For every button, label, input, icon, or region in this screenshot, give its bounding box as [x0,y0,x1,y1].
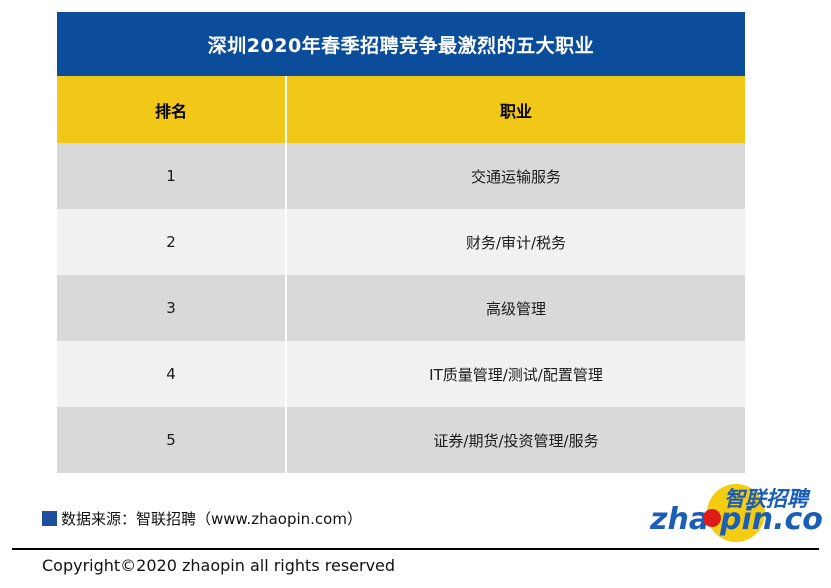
table-row: 2 财务/审计/税务 [57,209,745,275]
table-row: 1 交通运输服务 [57,143,745,209]
footer-divider [12,548,819,550]
data-source-note: 数据来源：智联招聘（www.zhaopin.com） [42,508,362,529]
table-row: 4 IT质量管理/测试/配置管理 [57,341,745,407]
cell-occupation: 财务/审计/税务 [287,209,745,275]
ranking-table: 深圳2020年春季招聘竞争最激烈的五大职业 排名 职业 1 交通运输服务 2 财… [57,12,745,475]
table-title-bar: 深圳2020年春季招聘竞争最激烈的五大职业 [57,12,745,76]
table-row: 3 高级管理 [57,275,745,341]
column-header-rank: 排名 [57,76,285,143]
cell-rank: 3 [57,275,285,341]
svg-text:智联招聘: 智联招聘 [724,487,811,511]
cell-rank: 2 [57,209,285,275]
cell-rank: 1 [57,143,285,209]
cell-rank: 5 [57,407,285,473]
table-row: 5 证券/期货/投资管理/服务 [57,407,745,473]
cell-rank: 4 [57,341,285,407]
cell-occupation: IT质量管理/测试/配置管理 [287,341,745,407]
bullet-square-icon [42,511,57,526]
column-header-occupation: 职业 [287,76,745,143]
table-header-row: 排名 职业 [57,76,745,143]
data-source-text: 数据来源：智联招聘（www.zhaopin.com） [61,508,362,529]
svg-text:zha: zha [650,502,709,537]
cell-occupation: 证券/期货/投资管理/服务 [287,407,745,473]
copyright-text: Copyright©2020 zhaopin all rights reserv… [42,556,395,575]
cell-occupation: 高级管理 [287,275,745,341]
page-title: 深圳2020年春季招聘竞争最激烈的五大职业 [208,31,594,58]
cell-occupation: 交通运输服务 [287,143,745,209]
zhaopin-logo[interactable]: zha pin.com 智联招聘 [650,484,822,542]
